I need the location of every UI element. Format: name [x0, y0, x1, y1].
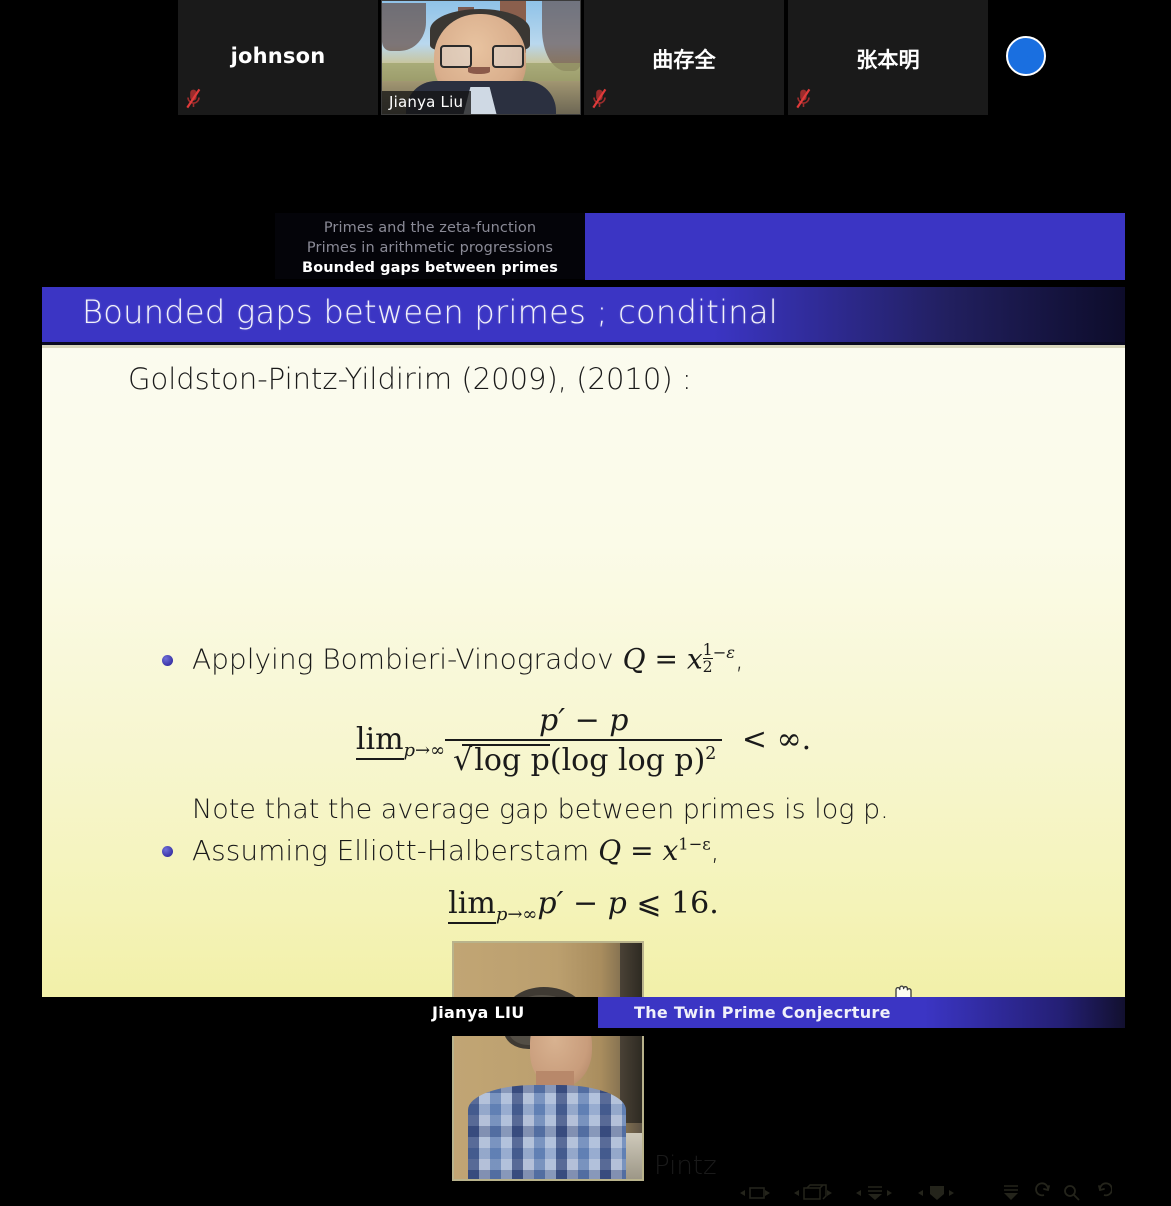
- bullet2-lead: Assuming Elliott-Halberstam: [192, 834, 589, 867]
- next-participants-button[interactable]: [1006, 36, 1046, 76]
- bullet1-base: x: [687, 643, 703, 676]
- footer-title-block: The Twin Prime Conjecrture: [598, 997, 1125, 1028]
- beamer-navigation-symbols[interactable]: [732, 1180, 1112, 1206]
- bullet2-equals: =: [630, 834, 653, 867]
- chevron-right-icon: [1008, 38, 1044, 74]
- slide-footer: Jianya LIU The Twin Prime Conjecrture: [42, 997, 1125, 1028]
- footer-title: The Twin Prime Conjecrture: [634, 1003, 891, 1022]
- bullet2-trailing: ,: [711, 834, 720, 867]
- figure-caption: Pintz: [654, 1151, 717, 1181]
- footer-author: Jianya LIU: [432, 1003, 525, 1022]
- formula1-relation: < ∞.: [742, 722, 811, 757]
- exp-numerator: 1: [703, 642, 713, 658]
- shared-screen-slide: Primes and the zeta-function Primes in a…: [0, 115, 1171, 1058]
- slide-body: Goldston-Pintz-Yildirim (2009), (2010) :…: [42, 345, 1125, 1000]
- slide-title-bar: Bounded gaps between primes ; conditinal: [42, 287, 1125, 345]
- eyeglasses-left: [440, 45, 472, 68]
- participant-name: 曲存全: [584, 44, 784, 74]
- bullet-dot-icon: [162, 655, 173, 666]
- microphone-muted-icon: [186, 88, 201, 109]
- participant-name: 张本明: [788, 44, 988, 74]
- avatar-mouth: [468, 67, 490, 74]
- participant-tile-zhangbenming[interactable]: 张本明: [788, 0, 988, 115]
- formula1-lim: lim: [356, 722, 404, 760]
- bullet1-equals: =: [654, 643, 677, 676]
- navigation-accent-bar: [585, 213, 1125, 280]
- bullet-dot-icon: [162, 846, 173, 857]
- formula1-den-tail: (log log p): [550, 743, 705, 778]
- bullet2-var: Q: [598, 834, 621, 867]
- participant-tile-qucunquan[interactable]: 曲存全: [584, 0, 784, 115]
- formula2-value: 16.: [671, 886, 719, 921]
- formula1-numerator: p′ − p: [445, 703, 722, 739]
- formula1-root-content: log p: [472, 743, 550, 778]
- microphone-muted-icon: [592, 88, 607, 109]
- video-name-label: Jianya Liu: [382, 91, 471, 114]
- eyeglasses-right: [492, 45, 524, 68]
- note-line: Note that the average gap between primes…: [192, 794, 889, 825]
- formula1-lim-subscript: p→∞: [404, 740, 446, 761]
- formula-liminf-ratio: limp→∞p′ − p√log p(log log p)2 < ∞.: [42, 703, 1125, 778]
- bullet1-var: Q: [623, 643, 646, 676]
- zoom-participant-strip: johnson Jianya Liu 曲存全: [0, 0, 1171, 115]
- breadcrumb-item-1[interactable]: Primes and the zeta-function: [275, 218, 585, 238]
- formula2-relation: ⩽: [636, 886, 661, 921]
- formula-liminf-gap: limp→∞p′ − p ⩽ 16.: [42, 886, 1125, 925]
- bullet1-exponent-fraction: 12: [703, 642, 713, 676]
- participant-tile-jianya-liu[interactable]: Jianya Liu: [381, 0, 581, 115]
- participant-name: johnson: [178, 44, 378, 68]
- breadcrumb-item-2[interactable]: Primes in arithmetic progressions: [275, 238, 585, 258]
- breadcrumb[interactable]: Primes and the zeta-function Primes in a…: [275, 213, 585, 279]
- bullet1-trailing: ,: [735, 643, 744, 676]
- formula2-lim-subscript: p→∞: [496, 904, 538, 925]
- formula1-den-exp: 2: [705, 744, 716, 764]
- participant-tile-johnson[interactable]: johnson: [178, 0, 378, 115]
- bullet1-exponent-tail: −ε: [713, 643, 735, 662]
- bullet-item-1: Applying Bombieri-Vinogradov Q = x12−ε,: [192, 642, 744, 676]
- square-root-icon: √log p: [451, 743, 550, 778]
- footer-bottom-strip: [42, 1028, 1125, 1036]
- formula2-lim: lim: [448, 886, 496, 924]
- formula1-fraction: p′ − p√log p(log log p)2: [445, 703, 722, 778]
- photo-plaid-shirt: [468, 1085, 626, 1181]
- breadcrumb-item-3[interactable]: Bounded gaps between primes: [275, 258, 585, 278]
- bullet2-exponent: 1−ε: [678, 835, 710, 854]
- microphone-muted-icon: [796, 88, 811, 109]
- authors-line: Goldston-Pintz-Yildirim (2009), (2010) :: [128, 362, 692, 396]
- formula2-expression: p′ − p: [537, 886, 626, 921]
- bullet2-base: x: [662, 834, 678, 867]
- pintz-photo: [452, 941, 644, 1181]
- bullet-item-2: Assuming Elliott-Halberstam Q = x1−ε,: [192, 834, 720, 867]
- formula1-denominator: √log p(log log p)2: [445, 739, 722, 778]
- exp-denominator: 2: [703, 658, 713, 676]
- slide-title: Bounded gaps between primes ; conditinal: [82, 293, 778, 331]
- bullet1-lead: Applying Bombieri-Vinogradov: [192, 643, 614, 676]
